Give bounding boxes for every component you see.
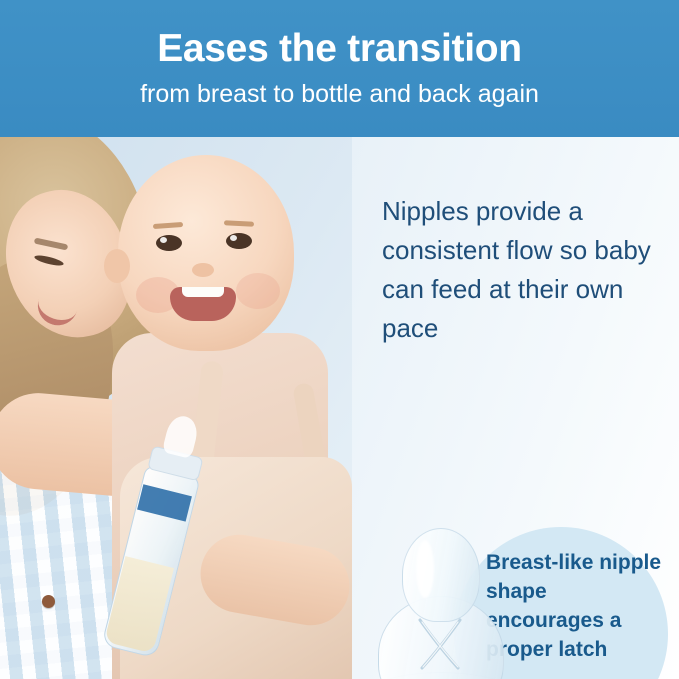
lifestyle-photo (0, 137, 352, 679)
bottle-nipple (162, 413, 201, 459)
nipple-highlight (416, 540, 434, 598)
bottle-milk (104, 556, 174, 653)
baby-ear (104, 249, 130, 283)
content-area: Nipples provide a consistent flow so bab… (0, 137, 679, 679)
baby-mouth (170, 287, 236, 321)
baby-eye-highlight-right (230, 235, 237, 241)
shirt-button (42, 595, 55, 608)
page-title: Eases the transition (0, 26, 679, 72)
baby-head (118, 155, 294, 351)
baby-eye-highlight-left (160, 237, 167, 243)
baby-teeth (182, 287, 224, 297)
page-subtitle: from breast to bottle and back again (0, 79, 679, 109)
header-banner: Eases the transition from breast to bott… (0, 0, 679, 137)
body-copy: Nipples provide a consistent flow so bab… (382, 192, 666, 348)
baby-nose (192, 263, 214, 277)
nipple-tip (402, 528, 480, 622)
flow-level-number: 1 (408, 674, 472, 679)
bottle-nipple-product: 1 (306, 522, 572, 679)
nipple-x-cut-icon (408, 612, 472, 676)
promo-image-root: Eases the transition from breast to bott… (0, 0, 679, 679)
baby-cheek-right (236, 273, 280, 309)
